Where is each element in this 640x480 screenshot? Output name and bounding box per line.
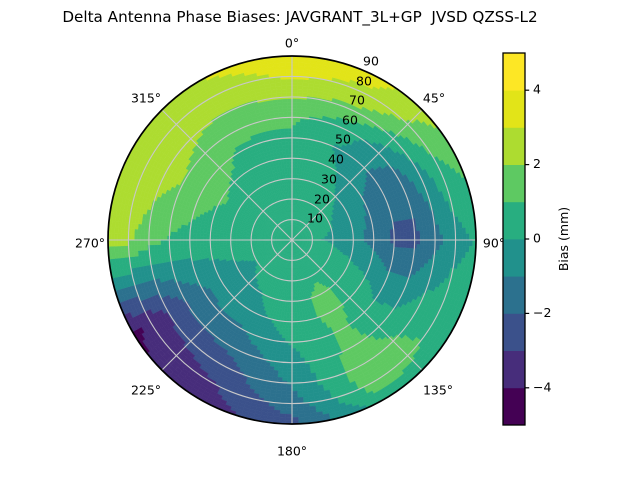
contour-cell — [341, 236, 344, 238]
contour-cell — [298, 155, 301, 159]
contour-cell — [236, 242, 239, 244]
contour-cell — [286, 328, 289, 331]
contour-cell — [284, 168, 287, 171]
contour-cell — [374, 231, 378, 234]
contour-cell — [296, 302, 299, 305]
contour-cell — [294, 168, 297, 171]
contour-cell — [223, 245, 226, 248]
contour-cell — [204, 249, 208, 252]
contour-cell — [294, 289, 296, 292]
contour-cell — [348, 236, 351, 238]
contour-cell — [243, 242, 246, 244]
contour-cell — [286, 322, 289, 325]
contour-cell — [377, 246, 381, 249]
matplotlib-figure: Delta Antenna Phase Biases: JAVGRANT_3L+… — [0, 0, 640, 480]
contour-cell — [364, 232, 367, 235]
contour-cell — [295, 325, 298, 328]
contour-cell — [377, 228, 381, 231]
contour-cell — [374, 234, 377, 237]
contour-cell — [216, 243, 219, 246]
contour-cell — [367, 243, 370, 246]
contour-cell — [213, 234, 216, 237]
contour-cell — [280, 152, 283, 156]
contour-cell — [358, 235, 361, 238]
contour-cell — [287, 309, 290, 312]
contour-cell — [287, 174, 289, 177]
contour-cell — [217, 245, 220, 248]
contour-cell — [354, 233, 357, 236]
contour-cell — [223, 242, 226, 245]
contour-cell — [283, 152, 286, 156]
contour-cell — [287, 171, 290, 174]
contour-cell — [295, 148, 298, 151]
contour-cell — [287, 164, 290, 167]
contour-cell — [207, 249, 211, 252]
contour-cell — [294, 292, 296, 295]
contour-cell — [239, 242, 242, 244]
contour-cell — [364, 243, 367, 246]
contour-cell — [367, 234, 370, 237]
contour-cell — [204, 246, 208, 249]
polar-contour-plot: 0°45°90°135°180°225°270°315° 10203040506… — [0, 0, 640, 480]
contour-cell — [207, 246, 211, 249]
contour-cell — [286, 325, 289, 328]
contour-cell — [294, 309, 297, 312]
contour-cell — [373, 228, 377, 231]
contour-cell — [380, 243, 383, 246]
contour-cell — [361, 242, 364, 245]
contour-cell — [367, 232, 371, 235]
contour-cell — [294, 302, 296, 305]
contour-cell — [297, 315, 300, 319]
contour-cell — [295, 155, 298, 158]
contour-cell — [298, 325, 301, 329]
contour-cell — [233, 242, 236, 244]
contour-cell — [283, 325, 286, 329]
contour-cell — [295, 312, 298, 315]
contour-cell — [301, 328, 305, 332]
contour-cell — [283, 155, 286, 159]
contour-cell — [380, 246, 384, 249]
contour-cell — [289, 191, 291, 194]
contour-cell — [286, 161, 289, 164]
contour-cell — [295, 328, 298, 331]
contour-cell — [380, 227, 384, 231]
contour-cell — [216, 235, 219, 238]
contour-cell — [361, 235, 364, 238]
contour-cell — [297, 309, 300, 312]
contour-cell — [380, 234, 383, 237]
contour-cell — [220, 235, 223, 238]
contour-cell — [285, 174, 288, 177]
contour-cell — [301, 321, 304, 325]
contour-cell — [374, 246, 378, 249]
contour-cell — [284, 161, 287, 165]
contour-cell — [298, 148, 301, 152]
contour-cell — [203, 234, 206, 237]
contour-cell — [287, 312, 290, 315]
contour-cell — [297, 305, 300, 308]
contour-cell — [282, 328, 285, 332]
contour-cell — [364, 235, 367, 238]
contour-cell — [361, 232, 364, 235]
contour-cell — [295, 164, 298, 167]
contour-cell — [283, 322, 286, 326]
contour-cell — [226, 244, 229, 247]
contour-cell — [294, 296, 296, 299]
contour-cell — [294, 286, 296, 289]
contour-cell — [295, 151, 298, 154]
contour-cell — [344, 236, 347, 238]
contour-cell — [213, 245, 217, 248]
contour-cell — [297, 312, 300, 315]
contour-cell — [301, 325, 304, 329]
contour-cell — [288, 187, 290, 190]
contour-cell — [377, 243, 380, 246]
contour-cell — [286, 315, 289, 318]
contour-cell — [220, 242, 223, 245]
contour-cell — [213, 243, 216, 246]
contour-cell — [286, 155, 289, 158]
contour-cell — [377, 234, 380, 237]
contour-cell — [207, 243, 210, 246]
contour-cell — [285, 171, 288, 174]
contour-cell — [220, 245, 223, 248]
contour-cell — [295, 161, 298, 164]
contour-cell — [294, 171, 297, 174]
contour-cell — [201, 249, 205, 253]
contour-cell — [374, 243, 377, 246]
contour-cell — [287, 306, 290, 309]
contour-cell — [298, 152, 301, 156]
contour-cell — [380, 230, 384, 233]
contour-cell — [298, 322, 301, 326]
contour-cell — [295, 322, 298, 325]
contour-cell — [377, 231, 381, 234]
contour-cell — [288, 184, 290, 187]
contour-cell — [288, 181, 290, 184]
contour-cell — [203, 243, 206, 246]
contour-cell — [204, 231, 208, 234]
contour-cell — [298, 328, 301, 332]
contour-cell — [286, 151, 289, 154]
contour-cell — [226, 242, 229, 244]
contour-cell — [358, 242, 361, 245]
contour-cell — [295, 315, 298, 318]
contour-cell — [223, 235, 226, 238]
contour-cell — [284, 165, 287, 168]
contour-cell — [207, 231, 211, 234]
contour-cell — [200, 246, 204, 249]
contour-cell — [338, 237, 341, 239]
contour-cell — [200, 243, 203, 246]
contour-cell — [357, 233, 360, 236]
contour-cell — [354, 235, 357, 237]
contour-cell — [294, 306, 297, 309]
contour-cell — [207, 234, 210, 237]
contour-cell — [287, 168, 290, 171]
contour-cell — [280, 155, 283, 159]
